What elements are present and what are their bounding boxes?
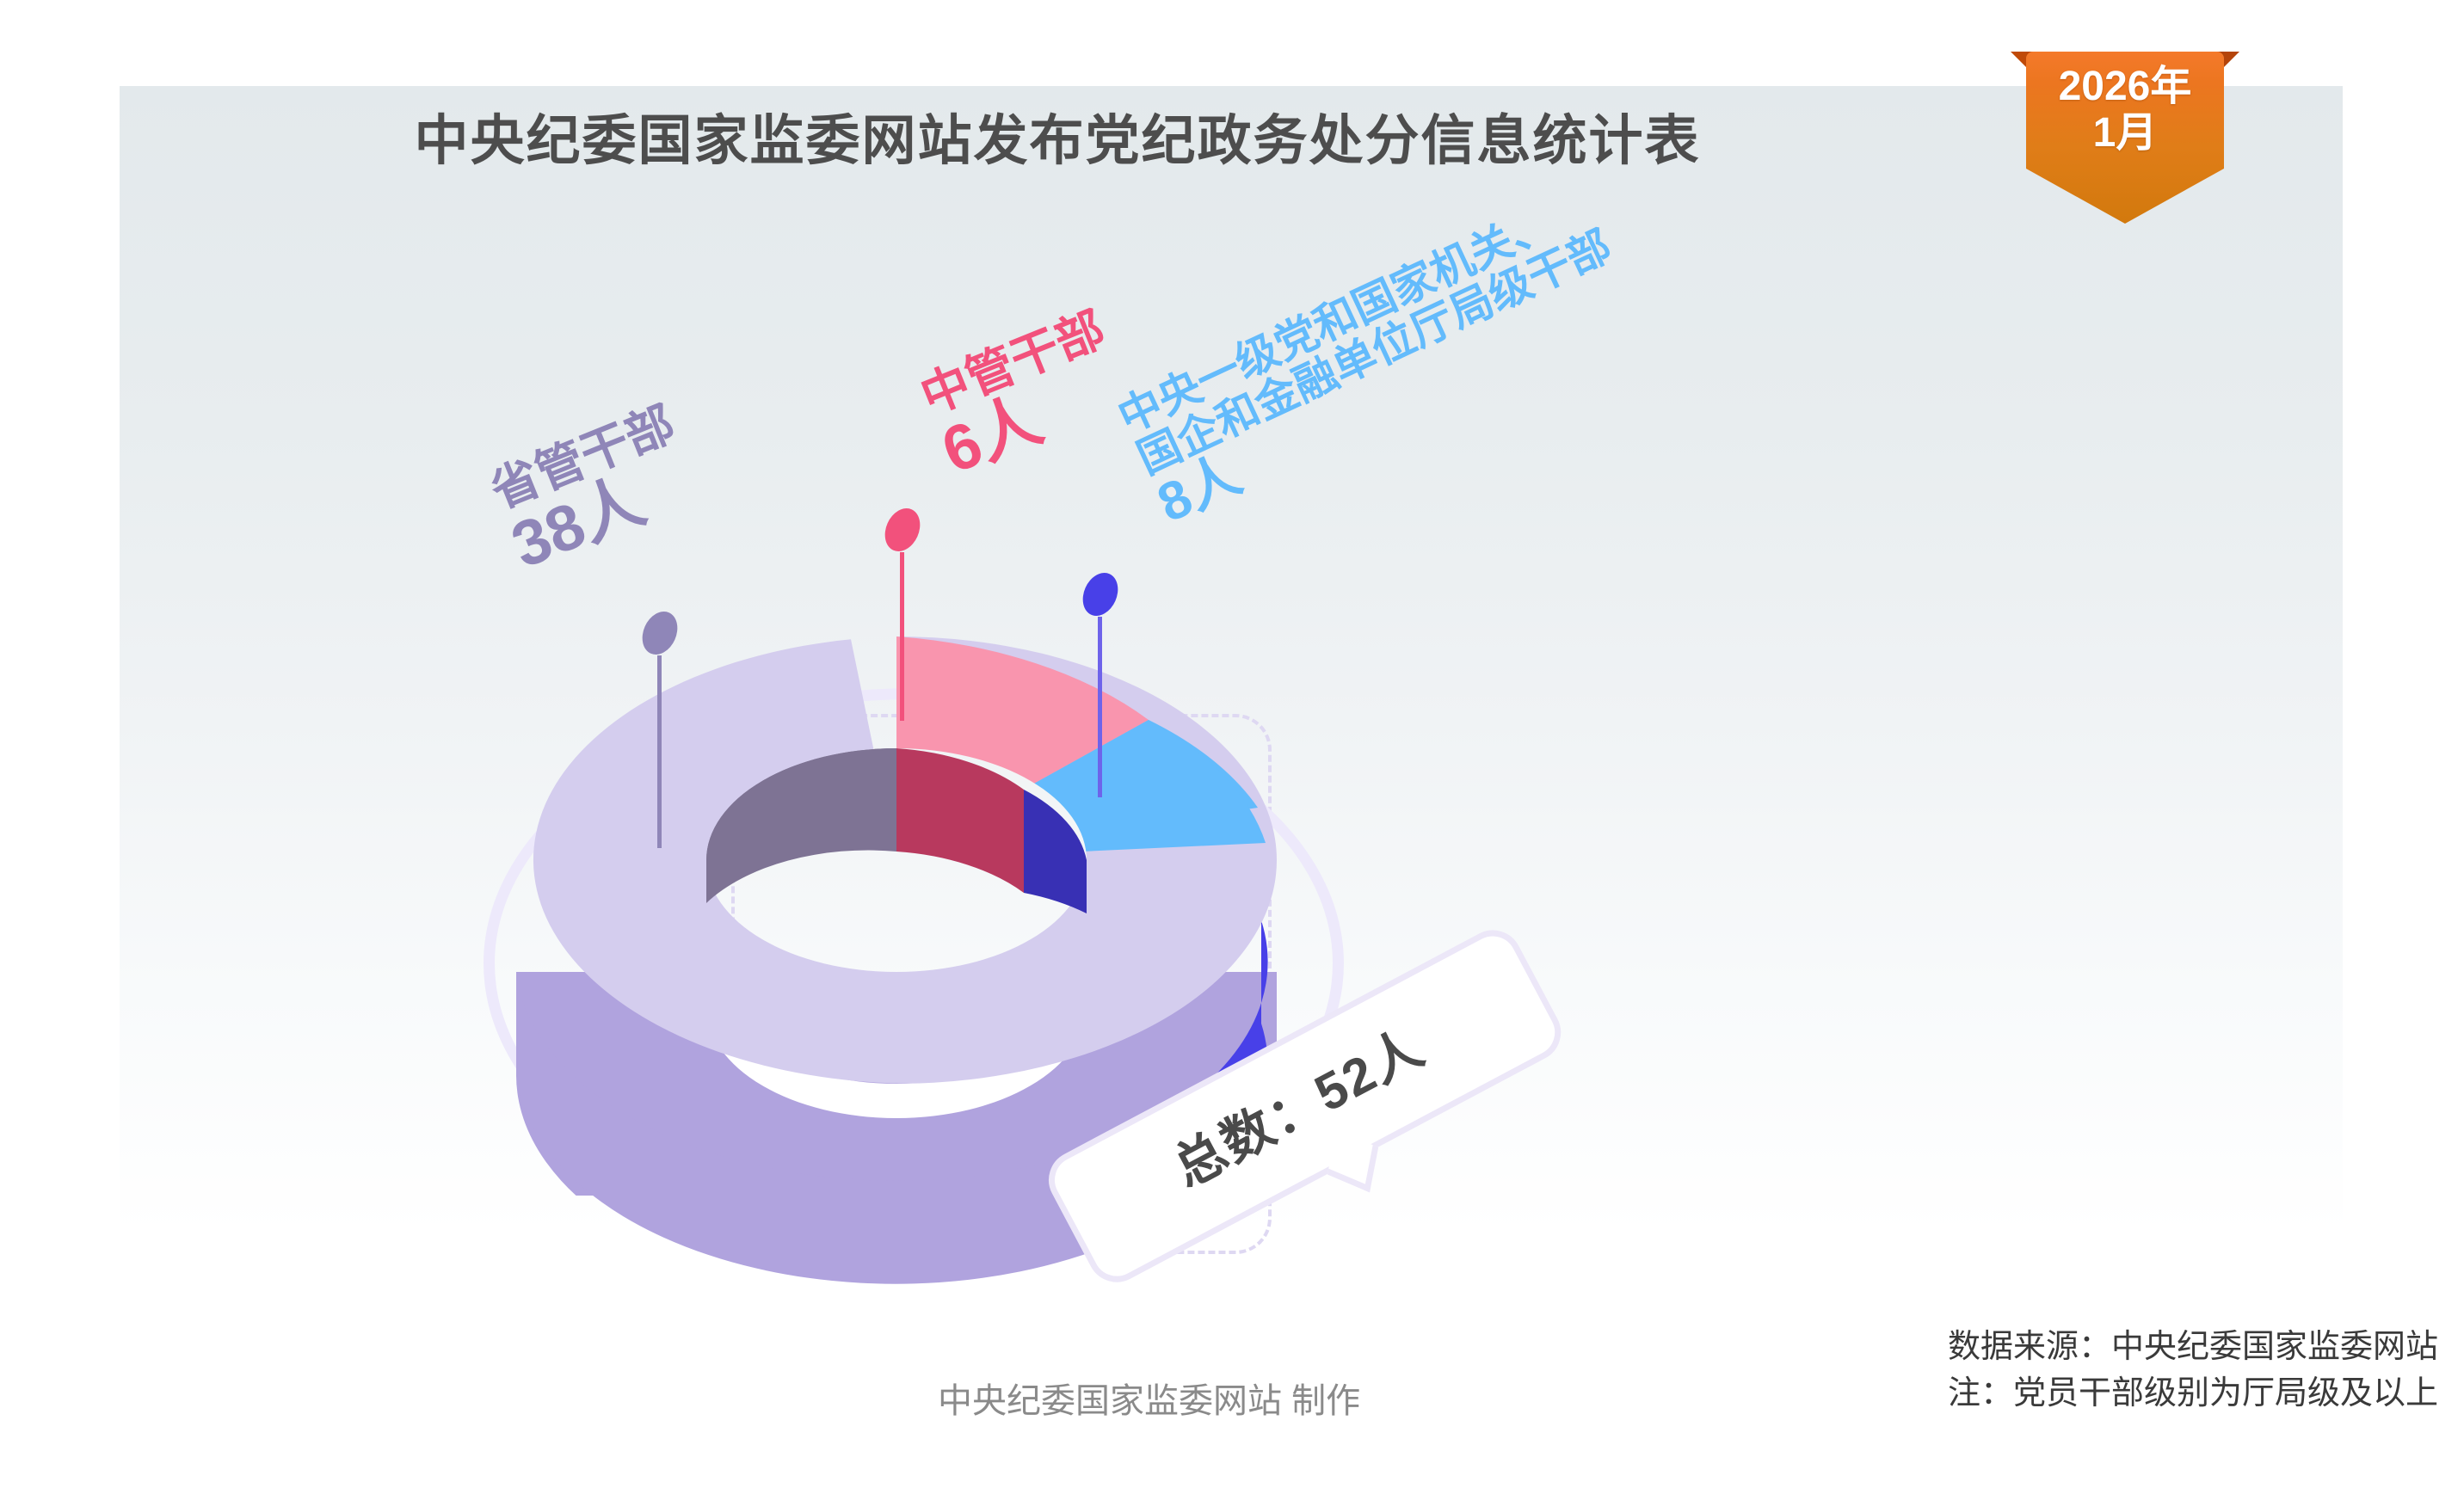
- pin-stem-icon: [657, 655, 662, 848]
- date-badge: 2026年 1月: [2026, 52, 2224, 232]
- source-block: 数据来源：中央纪委国家监委网站 注：党员干部级别为厅局级及以上: [1784, 1325, 2438, 1417]
- ribbon-text: 2026年 1月: [2026, 64, 2224, 157]
- credit-text: 中央纪委国家监委网站 制作: [938, 1373, 1360, 1423]
- badge-month: 1月: [2026, 110, 2224, 157]
- pin-connector-provincial: [644, 611, 676, 848]
- pin-stem-icon: [900, 552, 904, 721]
- infographic-root: 中央纪委国家监委网站发布党纪政务处分信息统计表 2026年 1月: [0, 0, 2464, 1488]
- badge-year: 2026年: [2059, 64, 2192, 109]
- source-line: 数据来源：中央纪委国家监委网站: [1784, 1325, 2438, 1371]
- pin-stem-icon: [1098, 617, 1102, 797]
- pin-connector-central: [886, 507, 919, 721]
- page-title: 中央纪委国家监委网站发布党纪政务处分信息统计表: [120, 96, 1995, 175]
- pin-connector-bureau: [1084, 572, 1117, 797]
- note-line: 注：党员干部级别为厅局级及以上: [1784, 1371, 2438, 1417]
